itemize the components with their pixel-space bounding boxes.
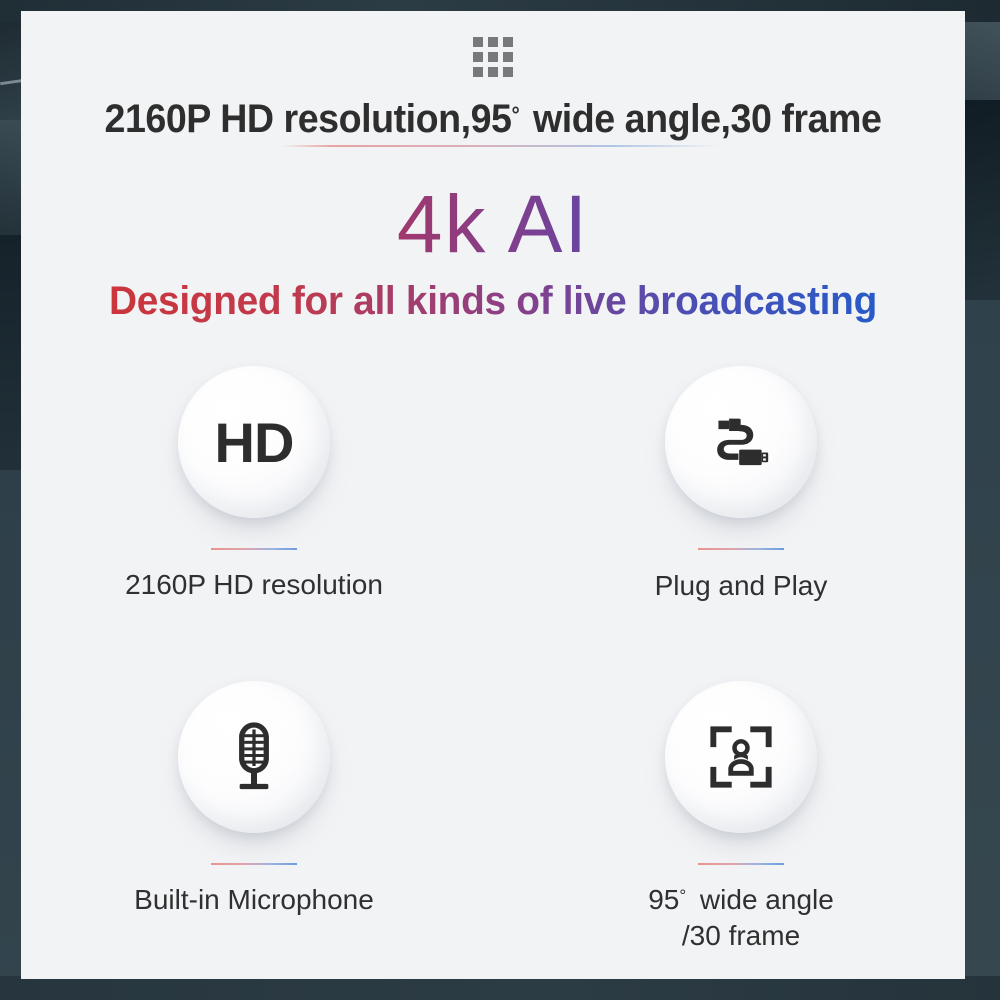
feature-divider [698, 548, 784, 550]
feature-item-hd-resolution: HD 2160P HD resolution [18, 366, 490, 681]
feature-label: Built-in Microphone [134, 882, 374, 918]
feature-divider [211, 863, 297, 865]
grid-dot [488, 37, 498, 47]
grid-dot [473, 52, 483, 62]
hero-tagline: Designed for all kinds of live broadcast… [35, 279, 951, 324]
grid-dot [503, 67, 513, 77]
feature-label-prefix: 95 [648, 884, 679, 915]
grid-dot [473, 37, 483, 47]
face-tracking-icon [706, 722, 776, 792]
grid-dot [503, 37, 513, 47]
feature-grid: HD 2160P HD resolution [21, 366, 965, 996]
degree-symbol: ° [511, 102, 519, 127]
grid-dot [488, 52, 498, 62]
hero-title: 4k AI [21, 184, 965, 266]
hd-badge-icon: HD [215, 410, 294, 475]
headline-divider [280, 145, 720, 147]
dot-grid-ornament [21, 37, 965, 77]
feature-icon-bubble [665, 366, 817, 518]
headline: 2160P HD resolution,95° wide angle,30 fr… [49, 97, 936, 142]
degree-symbol: ° [679, 886, 686, 905]
usb-cable-icon [704, 405, 778, 479]
feature-icon-bubble [665, 681, 817, 833]
headline-suffix: wide angle,30 frame [523, 97, 881, 141]
feature-label-main: wide angle [692, 884, 834, 915]
feature-label: Plug and Play [655, 568, 828, 604]
outer-frame: 2160P HD resolution,95° wide angle,30 fr… [0, 0, 1000, 1000]
microphone-icon [221, 720, 287, 794]
dot-grid-icon [473, 37, 513, 77]
feature-icon-bubble [178, 681, 330, 833]
feature-item-microphone: Built-in Microphone [18, 681, 490, 996]
feature-item-plug-and-play: Plug and Play [505, 366, 977, 681]
feature-item-wide-angle: 95° wide angle/30 frame [505, 681, 977, 996]
grid-dot [488, 67, 498, 77]
feature-label: 2160P HD resolution [125, 567, 383, 603]
feature-label-line2: /30 frame [682, 920, 800, 951]
feature-label: 95° wide angle/30 frame [648, 882, 834, 954]
product-info-card: 2160P HD resolution,95° wide angle,30 fr… [21, 11, 965, 979]
feature-divider [698, 863, 784, 865]
grid-dot [473, 67, 483, 77]
headline-prefix: 2160P HD resolution,95 [105, 97, 512, 141]
feature-icon-bubble: HD [178, 366, 330, 518]
grid-dot [503, 52, 513, 62]
feature-divider [211, 548, 297, 550]
